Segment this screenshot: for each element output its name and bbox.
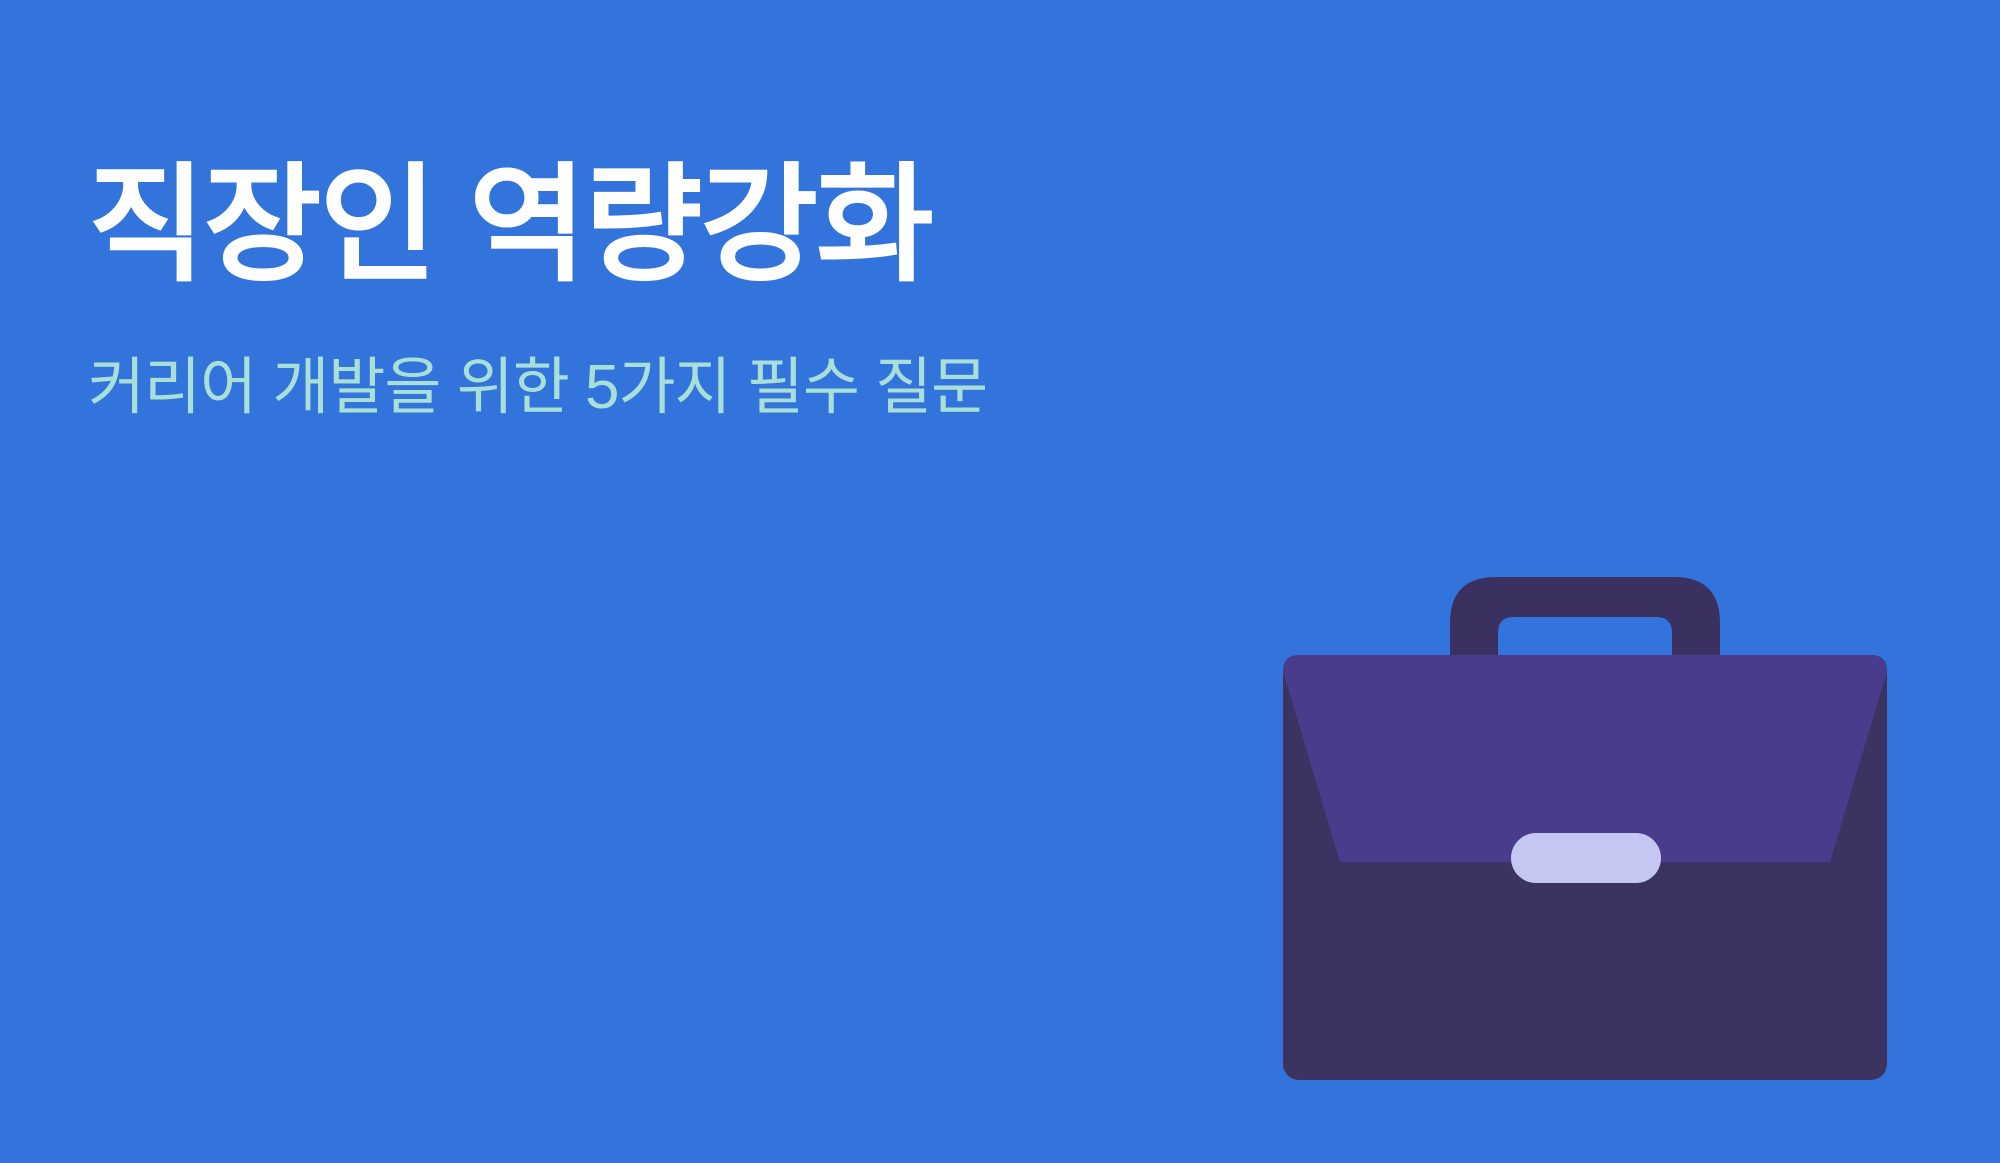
banner-text-block: 직장인 역량강화 커리어 개발을 위한 5가지 필수 질문: [88, 150, 1268, 427]
briefcase-illustration: [1255, 555, 1915, 1100]
promo-banner: 직장인 역량강화 커리어 개발을 위한 5가지 필수 질문: [0, 0, 2000, 1163]
briefcase-flap: [1283, 655, 1887, 862]
page-subtitle: 커리어 개발을 위한 5가지 필수 질문: [88, 349, 1268, 427]
briefcase-clasp-icon: [1511, 833, 1661, 883]
page-title: 직장인 역량강화: [88, 150, 1268, 301]
